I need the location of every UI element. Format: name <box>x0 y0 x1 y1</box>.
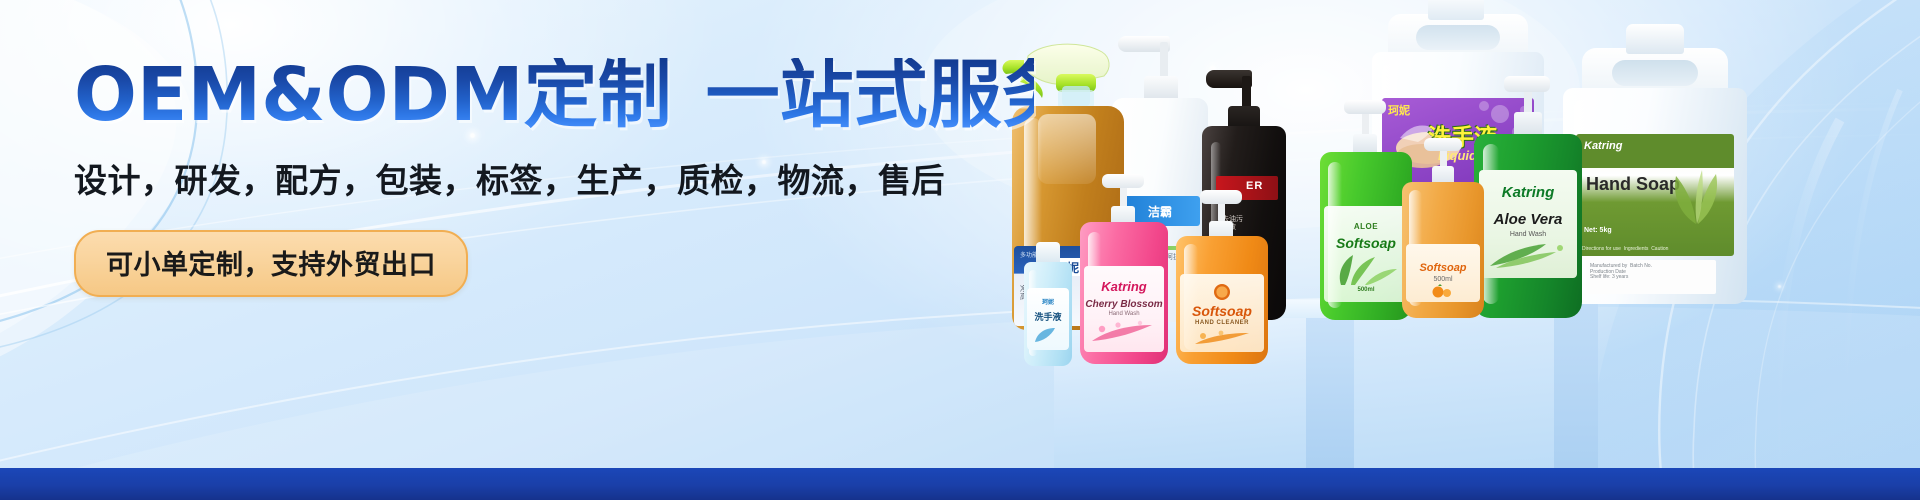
pump-head <box>1200 190 1242 204</box>
bottle-label: ALOE Softsoap 500ml <box>1324 206 1408 302</box>
bottle-product-subtitle: HAND CLEANER <box>1195 320 1249 326</box>
jerrycan-net-weight: Net: 5kg <box>1584 227 1612 234</box>
bottle-label: Softsoap 500ml <box>1406 244 1480 302</box>
pump-head <box>1424 138 1462 151</box>
bottle-brand-text: ER <box>1246 180 1263 192</box>
headline-text-block: OEM&ODM定制一站式服务 设计，研发，配方，包装，标签，生产，质检，物流，售… <box>74 58 1034 297</box>
bottle-label: Katring Aloe Vera Hand Wash <box>1479 170 1577 278</box>
bottle-product-title: Softsoap <box>1419 262 1466 274</box>
jerrycan-brand-text: Katring <box>1584 140 1623 152</box>
leaf-icon <box>1031 325 1065 345</box>
bottle-product-title: Aloe Vera <box>1494 211 1563 228</box>
bottom-color-bar <box>0 468 1920 500</box>
product-orange-softsoap-bottle: Softsoap HAND CLEANER <box>1176 232 1268 364</box>
bottle-product-title: Cherry Blossom <box>1085 299 1162 310</box>
headline-main-text: OEM&ODM定制 <box>74 52 672 138</box>
promotional-banner: OEM&ODM定制一站式服务 设计，研发，配方，包装，标签，生产，质检，物流，售… <box>0 0 1920 500</box>
bottle-cap <box>1036 242 1060 264</box>
banner-headline: OEM&ODM定制一站式服务 <box>74 58 1034 132</box>
aloe-leaf-icon <box>1331 253 1401 287</box>
orange-splash-icon <box>1191 329 1253 347</box>
pump-head <box>1102 174 1144 188</box>
pump-head <box>1504 76 1550 92</box>
banner-subtitle: 设计，研发，配方，包装，标签，生产，质检，物流，售后 <box>74 154 1034 202</box>
jerrycan2-brand-text: 珂妮 <box>1388 102 1410 118</box>
bottle-label-footer: 500ml <box>1357 287 1374 293</box>
bottle-label: 珂妮 洗手液 <box>1027 288 1069 350</box>
cherry-blossom-icon <box>1088 319 1160 345</box>
bottle-brand-text: 洁霸 <box>1148 203 1172 220</box>
headline-sub-text: 一站式服务 <box>706 52 1076 138</box>
pump-stem <box>1242 76 1251 110</box>
bottle-product-title: Softsoap <box>1336 235 1396 251</box>
pump-head <box>1344 100 1386 114</box>
bottle-brand-text: 珂妮 <box>1042 297 1054 306</box>
aloe-splash-icon <box>1484 240 1572 270</box>
orange-fruit-icon <box>1430 284 1456 298</box>
small-order-badge[interactable]: 可小单定制，支持外贸出口 <box>74 230 468 297</box>
bottle-product-subtitle: ALOE <box>1354 222 1378 231</box>
pedestal-side-face <box>1306 318 1354 470</box>
jerrycan-cap <box>1626 24 1684 54</box>
bottle-product-text: 洗手液 <box>1034 310 1061 323</box>
bottle-label: Softsoap HAND CLEANER <box>1180 274 1264 352</box>
jerrycan-handle-hole <box>1612 60 1698 86</box>
product-green-label-jerrycan: Katring Hand Soap Net: 5kg Directions fo… <box>1560 48 1750 308</box>
bottle-product-subtitle: 500ml <box>1433 276 1452 283</box>
jerrycan-label: Katring Hand Soap Net: 5kg Directions fo… <box>1576 134 1734 256</box>
bottle-product-subtitle: Hand Wash <box>1510 231 1546 238</box>
jerrycan2-cap <box>1428 0 1484 20</box>
bottle-product-subtitle: Hand Wash <box>1108 311 1139 317</box>
jerrycan-sticker-text: Manufactured by Batch No.Production Date… <box>1590 264 1712 281</box>
bottle-product-title: Softsoap <box>1192 303 1252 319</box>
product-small-orange-softsoap-bottle: Softsoap 500ml <box>1402 178 1484 318</box>
aloe-leaf-icon <box>1660 168 1732 226</box>
product-green-aloe-softsoap-bottle: ALOE Softsoap 500ml <box>1320 148 1412 320</box>
jerrycan2-handle-hole <box>1416 25 1500 50</box>
brand-seal-icon <box>1213 283 1231 301</box>
product-showcase: Katring Hand Soap Net: 5kg Directions fo… <box>980 0 1920 470</box>
product-pink-handwash-bottle: Katring Cherry Blossom Hand Wash <box>1080 218 1168 364</box>
bottle-brand-text: Katring <box>1502 184 1555 201</box>
product-green-aloe-vera-katring-bottle: Katring Aloe Vera Hand Wash <box>1474 128 1582 318</box>
bottle-label: Katring Cherry Blossom Hand Wash <box>1084 266 1164 352</box>
bottle-brand-text: Katring <box>1101 279 1147 294</box>
jerrycan-fineprint: Directions for use Ingredients Caution <box>1582 247 1702 253</box>
